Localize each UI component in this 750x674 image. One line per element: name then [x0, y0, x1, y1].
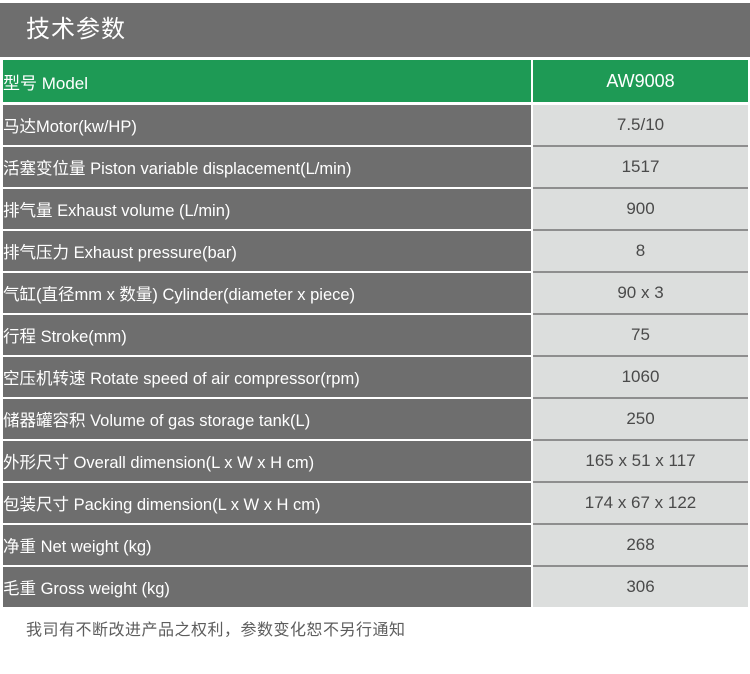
- table-row: 储器罐容积 Volume of gas storage tank(L) 250: [3, 399, 748, 441]
- spec-value-cell: 1060: [533, 357, 748, 399]
- table-row: 外形尺寸 Overall dimension(L x W x H cm) 165…: [3, 441, 748, 483]
- spec-label-cell: 外形尺寸 Overall dimension(L x W x H cm): [3, 441, 531, 483]
- model-label-cell: 型号 Model: [3, 60, 531, 105]
- spec-value-cell: 174 x 67 x 122: [533, 483, 748, 525]
- spec-label-cell: 活塞变位量 Piston variable displacement(L/min…: [3, 147, 531, 189]
- spec-header-bar: 技术参数: [0, 3, 750, 57]
- table-row: 排气压力 Exhaust pressure(bar) 8: [3, 231, 748, 273]
- spec-label-cell: 空压机转速 Rotate speed of air compressor(rpm…: [3, 357, 531, 399]
- spec-value-cell: 8: [533, 231, 748, 273]
- spec-value-cell: 75: [533, 315, 748, 357]
- spec-label-cell: 马达Motor(kw/HP): [3, 105, 531, 147]
- disclaimer-note: 我司有不断改进产品之权利，参数变化恕不另行通知: [0, 616, 750, 640]
- spec-label-cell: 排气压力 Exhaust pressure(bar): [3, 231, 531, 273]
- table-row: 毛重 Gross weight (kg) 306: [3, 567, 748, 607]
- spec-label-cell: 气缸(直径mm x 数量) Cylinder(diameter x piece): [3, 273, 531, 315]
- spec-label-cell: 包装尺寸 Packing dimension(L x W x H cm): [3, 483, 531, 525]
- page-title: 技术参数: [0, 18, 126, 42]
- model-value-cell: AW9008: [533, 60, 748, 105]
- table-row: 排气量 Exhaust volume (L/min) 900: [3, 189, 748, 231]
- spec-label-cell: 排气量 Exhaust volume (L/min): [3, 189, 531, 231]
- specifications-table-body: 型号 Model AW9008 马达Motor(kw/HP) 7.5/10 活塞…: [3, 60, 748, 607]
- specifications-table: 型号 Model AW9008 马达Motor(kw/HP) 7.5/10 活塞…: [3, 60, 748, 607]
- spec-label-cell: 净重 Net weight (kg): [3, 525, 531, 567]
- table-row: 行程 Stroke(mm) 75: [3, 315, 748, 357]
- spec-value-cell: 90 x 3: [533, 273, 748, 315]
- table-row: 气缸(直径mm x 数量) Cylinder(diameter x piece)…: [3, 273, 748, 315]
- table-row: 活塞变位量 Piston variable displacement(L/min…: [3, 147, 748, 189]
- specifications-table-wrapper: 型号 Model AW9008 马达Motor(kw/HP) 7.5/10 活塞…: [3, 60, 748, 607]
- table-row: 包装尺寸 Packing dimension(L x W x H cm) 174…: [3, 483, 748, 525]
- spec-value-cell: 250: [533, 399, 748, 441]
- table-row-model: 型号 Model AW9008: [3, 60, 748, 105]
- spec-label-cell: 行程 Stroke(mm): [3, 315, 531, 357]
- table-row: 空压机转速 Rotate speed of air compressor(rpm…: [3, 357, 748, 399]
- spec-value-cell: 268: [533, 525, 748, 567]
- spec-value-cell: 165 x 51 x 117: [533, 441, 748, 483]
- spec-value-cell: 306: [533, 567, 748, 607]
- spec-label-cell: 储器罐容积 Volume of gas storage tank(L): [3, 399, 531, 441]
- table-row: 净重 Net weight (kg) 268: [3, 525, 748, 567]
- table-row: 马达Motor(kw/HP) 7.5/10: [3, 105, 748, 147]
- spec-value-cell: 7.5/10: [533, 105, 748, 147]
- spec-value-cell: 900: [533, 189, 748, 231]
- spec-label-cell: 毛重 Gross weight (kg): [3, 567, 531, 607]
- spec-value-cell: 1517: [533, 147, 748, 189]
